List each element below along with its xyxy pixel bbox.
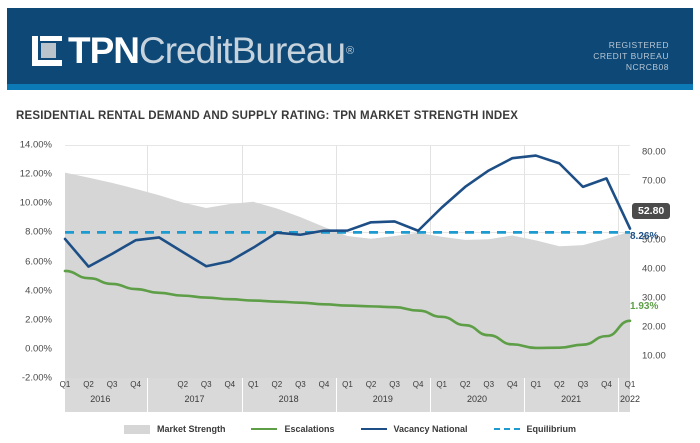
x-axis-year-divider (147, 378, 148, 412)
x-axis-quarter-label: Q1 (625, 380, 636, 389)
x-axis-quarter-label: Q2 (554, 380, 565, 389)
legend-label: Escalations (284, 424, 334, 434)
left-axis-tick: 14.00% (0, 140, 60, 151)
left-axis-tick: 10.00% (0, 198, 60, 209)
x-axis-quarter-label: Q4 (413, 380, 424, 389)
legend-swatch-icon (251, 428, 277, 430)
legend-swatch-icon (494, 428, 520, 430)
x-axis-quarter-label: Q3 (107, 380, 118, 389)
x-axis-quarter-label: Q1 (436, 380, 447, 389)
legend-label: Vacancy National (394, 424, 468, 434)
left-axis-tick: 12.00% (0, 169, 60, 180)
x-axis-quarter-label: Q1 (530, 380, 541, 389)
legend-item-vacancy-national[interactable]: Vacancy National (361, 424, 468, 434)
x-axis-year-label: 2021 (561, 394, 581, 404)
tpn-bracket-logo-icon (32, 36, 62, 66)
left-axis-tick: 6.00% (0, 256, 60, 267)
x-axis-quarter-label: Q4 (224, 380, 235, 389)
right-axis-tick: 20.00 (634, 322, 698, 333)
left-axis: -2.00%0.00%2.00%4.00%6.00%8.00%10.00%12.… (0, 145, 60, 378)
x-axis-year-label: 2022 (620, 394, 640, 404)
x-axis-quarter-label: Q2 (177, 380, 188, 389)
x-axis-quarter-label: Q4 (130, 380, 141, 389)
right-axis-tick: 10.00 (634, 351, 698, 362)
logo-secondary-text: CreditBureau (139, 32, 345, 70)
x-axis-year-divider (336, 378, 337, 412)
logo-primary-text: TPN (68, 32, 139, 70)
chart-container: -2.00%0.00%2.00%4.00%6.00%8.00%10.00%12.… (0, 135, 700, 443)
tpn-logo: TPNCreditBureau® (32, 32, 354, 70)
x-axis-year-label: 2017 (184, 394, 204, 404)
registration-line-1: REGISTERED (593, 40, 669, 51)
series-canvas (65, 145, 630, 378)
x-axis-quarter-label: Q1 (248, 380, 259, 389)
registration-block: REGISTERED CREDIT BUREAU NCRCB08 (593, 40, 669, 73)
right-axis-tick: 80.00 (634, 147, 698, 158)
x-axis-year-divider (618, 378, 619, 412)
registration-line-3: NCRCB08 (593, 62, 669, 73)
vacancy-value-label: 8.26% (630, 231, 658, 242)
x-axis-quarter-label: Q3 (389, 380, 400, 389)
right-axis: 10.0020.0030.0040.0050.0060.0070.0080.00 (634, 145, 698, 378)
legend-item-escalations[interactable]: Escalations (251, 424, 334, 434)
registered-trademark-icon: ® (346, 45, 354, 57)
x-axis-quarter-label: Q4 (319, 380, 330, 389)
left-axis-tick: 2.00% (0, 314, 60, 325)
x-axis-quarter-label: Q3 (295, 380, 306, 389)
left-axis-tick: 0.00% (0, 343, 60, 354)
x-axis-quarter-label: Q3 (483, 380, 494, 389)
x-axis-quarter-label: Q1 (60, 380, 71, 389)
header-accent-stripe (7, 84, 693, 90)
legend-label: Equilibrium (527, 424, 577, 434)
x-axis-year-label: 2019 (373, 394, 393, 404)
legend-swatch-icon (124, 425, 150, 434)
registration-line-2: CREDIT BUREAU (593, 51, 669, 62)
plot-area (65, 145, 630, 378)
x-axis-quarter-label: Q2 (272, 380, 283, 389)
escalations-value-label: 1.93% (630, 301, 658, 312)
x-axis-year-divider (430, 378, 431, 412)
x-axis-quarter-label: Q1 (342, 380, 353, 389)
legend-swatch-icon (361, 428, 387, 430)
x-axis: Q1Q2Q3Q4Q2Q3Q4Q1Q2Q3Q4Q1Q2Q3Q4Q1Q2Q3Q4Q1… (65, 378, 630, 412)
legend-item-market-strength[interactable]: Market Strength (124, 424, 226, 434)
page-title: RESIDENTIAL RENTAL DEMAND AND SUPPLY RAT… (16, 110, 518, 122)
x-axis-year-divider (242, 378, 243, 412)
x-axis-quarter-label: Q2 (83, 380, 94, 389)
right-axis-tick: 70.00 (634, 176, 698, 187)
right-axis-tick: 40.00 (634, 263, 698, 274)
x-axis-quarter-label: Q4 (601, 380, 612, 389)
chart-legend: Market StrengthEscalationsVacancy Nation… (0, 418, 700, 440)
legend-item-equilibrium[interactable]: Equilibrium (494, 424, 577, 434)
brand-header: TPNCreditBureau® REGISTERED CREDIT BUREA… (7, 8, 693, 88)
x-axis-year-label: 2016 (90, 394, 110, 404)
x-axis-quarter-label: Q2 (460, 380, 471, 389)
x-axis-year-label: 2020 (467, 394, 487, 404)
left-axis-tick: 8.00% (0, 227, 60, 238)
legend-label: Market Strength (157, 424, 226, 434)
x-axis-quarter-label: Q4 (507, 380, 518, 389)
x-axis-quarter-label: Q3 (201, 380, 212, 389)
x-axis-year-label: 2018 (279, 394, 299, 404)
left-axis-tick: -2.00% (0, 373, 60, 384)
market-strength-value-badge: 52.80 (632, 203, 670, 219)
x-axis-quarter-label: Q3 (578, 380, 589, 389)
x-axis-quarter-label: Q2 (366, 380, 377, 389)
left-axis-tick: 4.00% (0, 285, 60, 296)
x-axis-year-divider (524, 378, 525, 412)
